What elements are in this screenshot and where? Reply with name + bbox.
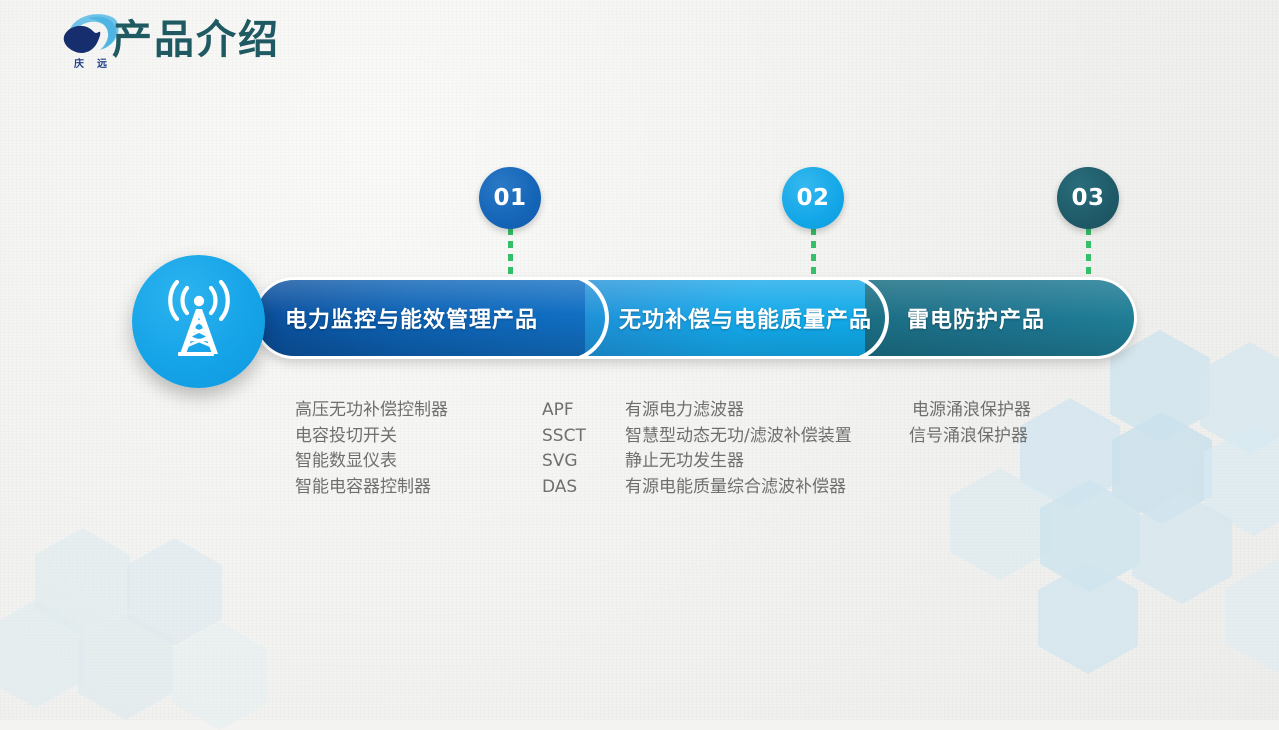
hexagon-shape (1038, 562, 1138, 674)
hexagon-shape (35, 528, 130, 636)
svg-text:远: 远 (97, 58, 107, 70)
hexagon-shape (0, 600, 83, 708)
hexagon-shape (1040, 480, 1140, 592)
product-column-abbreviations: APF SSCT SVG DAS (542, 398, 586, 500)
ribbon-segment-2-label: 无功补偿与电能质量产品 (619, 302, 872, 334)
product-item: 高压无功补偿控制器 (295, 398, 448, 424)
product-abbr: SSCT (542, 424, 586, 450)
ribbon-segment-3-label: 雷电防护产品 (907, 302, 1045, 334)
broadcast-tower-circle[interactable] (132, 255, 265, 388)
ribbon-segment-lightning-protection[interactable]: 雷电防护产品 (865, 279, 1135, 357)
hexagon-shape (172, 622, 267, 730)
product-column-lightning-protection: 电源涌浪保护器 信号涌浪保护器 (912, 398, 1031, 449)
product-item: 智能数显仪表 (295, 449, 448, 475)
step-badge-02[interactable]: 02 (782, 167, 844, 229)
product-item: 智慧型动态无功/滤波补偿装置 (625, 424, 852, 450)
page-title: 产品介绍 (112, 18, 280, 62)
product-abbr: DAS (542, 475, 586, 501)
hexagon-shape (1204, 424, 1279, 536)
product-abbr: SVG (542, 449, 586, 475)
step-badge-03[interactable]: 03 (1057, 167, 1119, 229)
product-item: 有源电能质量综合滤波补偿器 (625, 475, 852, 501)
product-column-reactive-compensation: 有源电力滤波器 智慧型动态无功/滤波补偿装置 静止无功发生器 有源电能质量综合滤… (625, 398, 852, 500)
ribbon-segment-1-label: 电力监控与能效管理产品 (285, 302, 538, 334)
product-item: 有源电力滤波器 (625, 398, 852, 424)
product-column-power-monitoring: 高压无功补偿控制器 电容投切开关 智能数显仪表 智能电容器控制器 (295, 398, 448, 500)
product-item: 电容投切开关 (295, 424, 448, 450)
hexagon-shape (78, 612, 173, 720)
hexagon-shape (950, 468, 1050, 580)
ribbon-divider-2 (843, 279, 889, 357)
product-item: 信号涌浪保护器 (909, 424, 1031, 450)
step-badge-03-label: 03 (1071, 185, 1104, 211)
category-ribbon: 电力监控与能效管理产品 无功补偿与电能质量产品 雷电防护产品 (255, 279, 1135, 357)
ribbon-segment-power-monitoring[interactable]: 电力监控与能效管理产品 (255, 279, 585, 357)
step-badge-01-label: 01 (493, 185, 526, 211)
hexagon-shape (1132, 492, 1232, 604)
product-item: 电源涌浪保护器 (912, 398, 1031, 424)
connector-line-02 (811, 228, 816, 286)
product-item: 智能电容器控制器 (295, 475, 448, 501)
hexagon-shape (1112, 412, 1212, 524)
hexagon-shape (1020, 398, 1120, 510)
svg-text:庆: 庆 (73, 57, 84, 70)
hexagon-shape (1200, 342, 1279, 454)
connector-line-03 (1086, 228, 1091, 286)
connector-line-01 (508, 228, 513, 286)
step-badge-01[interactable]: 01 (479, 167, 541, 229)
hexagon-shape (1226, 560, 1279, 672)
ribbon-segment-reactive-compensation[interactable]: 无功补偿与电能质量产品 (585, 279, 865, 357)
broadcast-tower-icon (157, 278, 241, 365)
hexagon-shape (127, 538, 222, 646)
product-item: 静止无功发生器 (625, 449, 852, 475)
slide-header: 庆 远 产品介绍 (0, 0, 1279, 92)
product-abbr: APF (542, 398, 586, 424)
step-badge-02-label: 02 (796, 185, 829, 211)
ribbon-divider-1 (563, 279, 609, 357)
